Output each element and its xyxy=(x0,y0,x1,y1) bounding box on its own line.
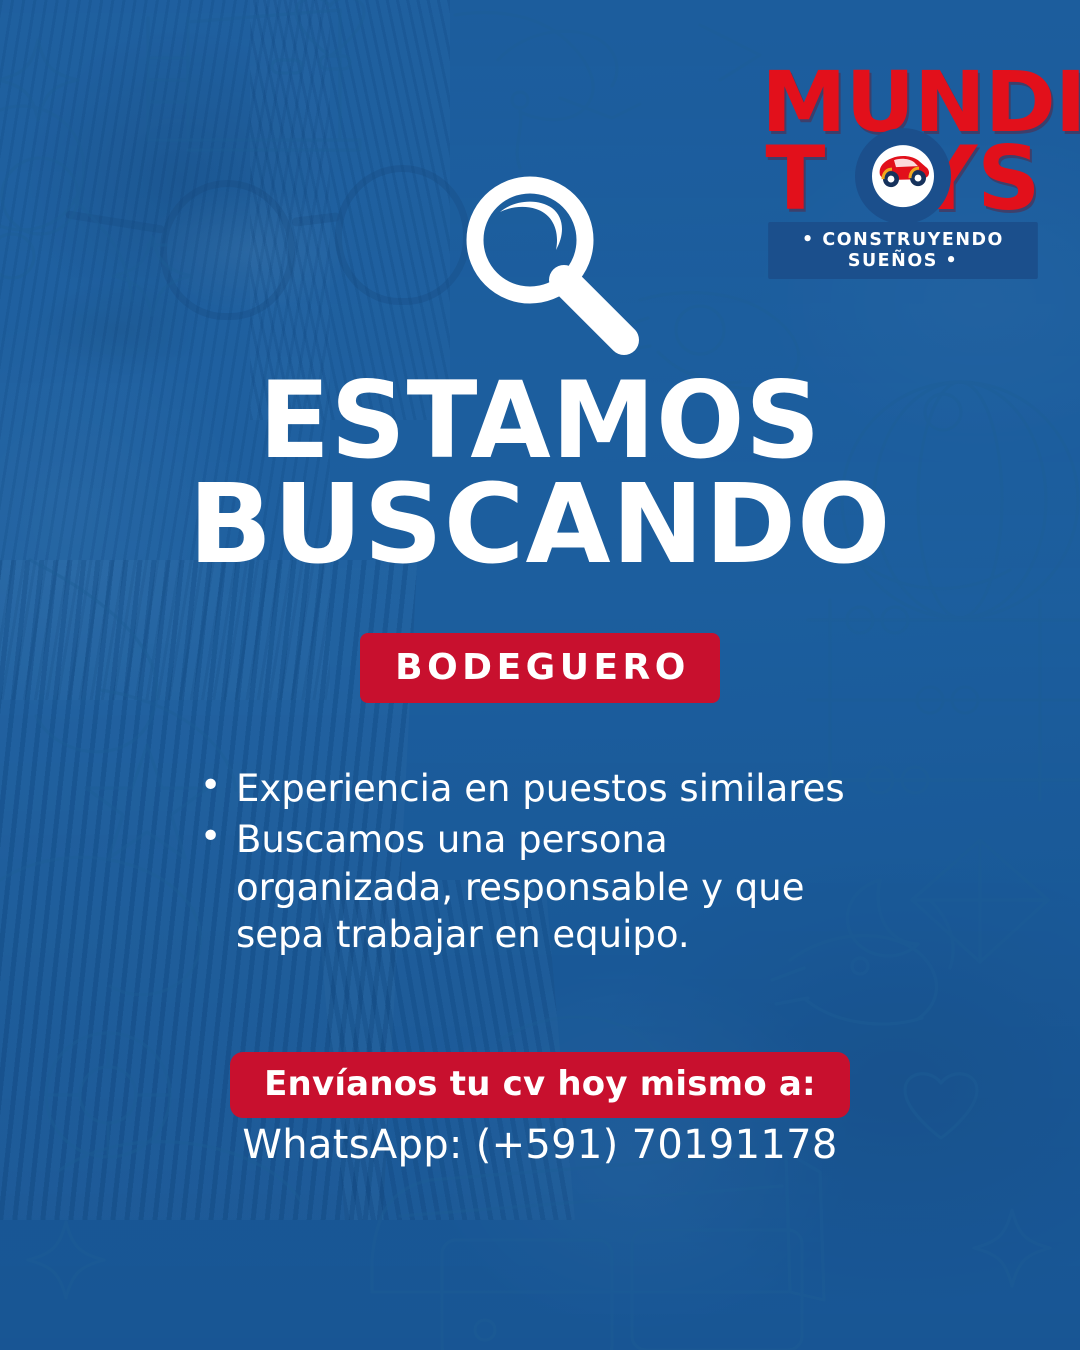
logo-toys-left: T xyxy=(765,127,825,230)
logo-wordmark-toys: TYS xyxy=(764,139,1042,218)
headline-line-2: BUSCANDO xyxy=(0,474,1080,575)
search-icon xyxy=(452,168,652,368)
job-posting-poster: MUNDI TYS • CONST xyxy=(0,0,1080,1350)
status-badge: BODEGUERO xyxy=(360,633,720,703)
requirements-list: Experiencia en puestos similares Buscamo… xyxy=(192,765,892,962)
list-item: Buscamos una persona organizada, respons… xyxy=(192,816,892,958)
toy-car-icon xyxy=(855,129,951,225)
list-item: Experiencia en puestos similares xyxy=(192,765,892,812)
brand-logo: MUNDI TYS • CONST xyxy=(764,68,1042,280)
headline-line-1: ESTAMOS xyxy=(11,372,1069,470)
page-title: ESTAMOS BUSCANDO xyxy=(0,372,1080,575)
cta-container: Envíanos tu cv hoy mismo a: xyxy=(0,1052,1080,1118)
whatsapp-contact[interactable]: WhatsApp: (+591) 70191178 xyxy=(0,1122,1080,1168)
role-badge-container: BODEGUERO xyxy=(0,633,1080,703)
logo-o-inner-circle xyxy=(872,146,934,208)
logo-tagline: • CONSTRUYENDO SUEÑOS • xyxy=(768,222,1038,279)
send-cv-button[interactable]: Envíanos tu cv hoy mismo a: xyxy=(230,1052,850,1118)
